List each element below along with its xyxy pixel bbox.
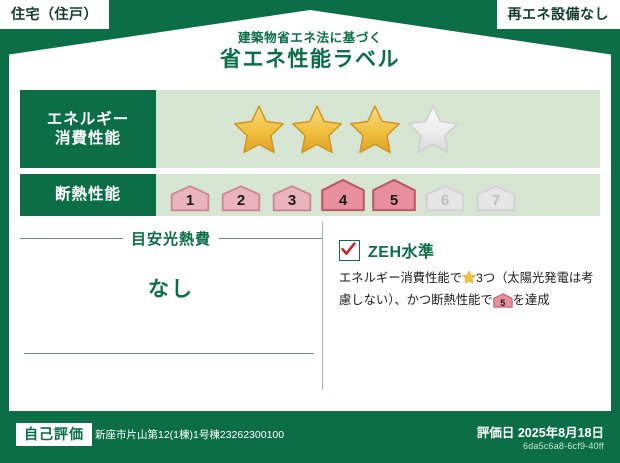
insulation-level-4: 4 — [319, 178, 367, 212]
heading-rule-left — [20, 238, 123, 239]
zeh-desc-part3: を達成 — [513, 293, 550, 307]
insulation-level-number: 3 — [268, 193, 316, 208]
star-filled-icon — [232, 103, 286, 155]
zeh-section: ZEH水準 エネルギー消費性能で3つ（太陽光発電は考慮しない）、かつ断熱性能で5… — [322, 222, 600, 390]
insulation-level-1: 1 — [166, 182, 214, 212]
energy-label-line2: 消費性能 — [55, 129, 121, 148]
insulation-level-number: 1 — [166, 193, 214, 208]
zeh-description: エネルギー消費性能で3つ（太陽光発電は考慮しない）、かつ断熱性能で5を達成 — [339, 269, 600, 311]
property-address: 新座市片山第12(1棟)1号棟23262300100 — [95, 427, 284, 442]
energy-performance-label: 住宅（住戸） 再エネ設備なし 建築物省エネ法に基づく 省エネ性能ラベル エネルギ… — [0, 0, 620, 463]
insulation-level-6: 6 — [421, 182, 469, 212]
energy-performance-label-box: エネルギー 消費性能 — [20, 90, 156, 168]
mini-house-badge: 5 — [493, 293, 513, 308]
zeh-desc-stars: 3つ（太陽光発電 — [476, 271, 569, 285]
energy-performance-row: エネルギー 消費性能 — [20, 90, 600, 168]
insulation-level-7: 7 — [472, 182, 520, 212]
star-filled-icon — [290, 103, 344, 155]
insulation-level-3: 3 — [268, 182, 316, 212]
utility-cost-section: 目安光熱費 なし — [20, 222, 322, 390]
label-hash-id: 6da5c6a8-6cf9-40ff — [523, 441, 604, 451]
energy-label-line1: エネルギー — [47, 110, 130, 129]
insulation-level-number: 7 — [472, 193, 520, 208]
energy-star-area — [156, 90, 600, 168]
star-rating — [232, 103, 460, 155]
mini-star-icon — [462, 270, 476, 291]
check-icon — [341, 242, 356, 257]
insulation-level-5: 5 — [370, 178, 418, 212]
label-footer: 自己評価 新座市片山第12(1棟)1号棟23262300100 評価日 2025… — [0, 411, 620, 463]
utility-cost-heading-row: 目安光熱費 — [20, 228, 322, 249]
label-title-block: 建築物省エネ法に基づく 省エネ性能ラベル — [0, 32, 620, 73]
star-empty-icon — [406, 103, 460, 155]
lower-section: 目安光熱費 なし ZEH水準 — [20, 222, 600, 390]
zeh-checkbox[interactable] — [339, 240, 360, 261]
label-subtitle: 建築物省エネ法に基づく — [0, 32, 620, 46]
insulation-level-2: 2 — [217, 182, 265, 212]
label-body-panel: エネルギー 消費性能 断熱性能 1234567 目安 — [9, 86, 611, 411]
heading-rule-right — [219, 238, 322, 239]
insulation-performance-label-box: 断熱性能 — [20, 174, 156, 216]
insulation-performance-row: 断熱性能 1234567 — [20, 174, 600, 216]
insulation-level-number: 4 — [319, 193, 367, 208]
utility-cost-value: なし — [20, 273, 322, 303]
zeh-heading-row: ZEH水準 — [339, 238, 600, 262]
evaluation-date: 評価日 2025年8月18日 — [477, 422, 604, 441]
zeh-title: ZEH水準 — [368, 238, 435, 262]
insulation-level-number: 5 — [370, 193, 418, 208]
mini-house-number: 5 — [493, 299, 513, 308]
insulation-level-number: 6 — [421, 193, 469, 208]
self-evaluation-badge: 自己評価 — [16, 423, 92, 446]
insulation-scale-area: 1234567 — [156, 174, 600, 216]
renewable-equipment-tag: 再エネ設備なし — [497, 0, 620, 29]
utility-cost-bottom-rule — [24, 353, 314, 354]
zeh-desc-part1: エネルギー消費性能で — [339, 271, 462, 285]
insulation-house-scale: 1234567 — [166, 178, 520, 212]
label-title: 省エネ性能ラベル — [0, 47, 620, 73]
star-filled-icon — [348, 103, 402, 155]
insulation-level-number: 2 — [217, 193, 265, 208]
building-type-tag: 住宅（住戸） — [0, 0, 109, 29]
utility-cost-heading: 目安光熱費 — [131, 228, 211, 249]
